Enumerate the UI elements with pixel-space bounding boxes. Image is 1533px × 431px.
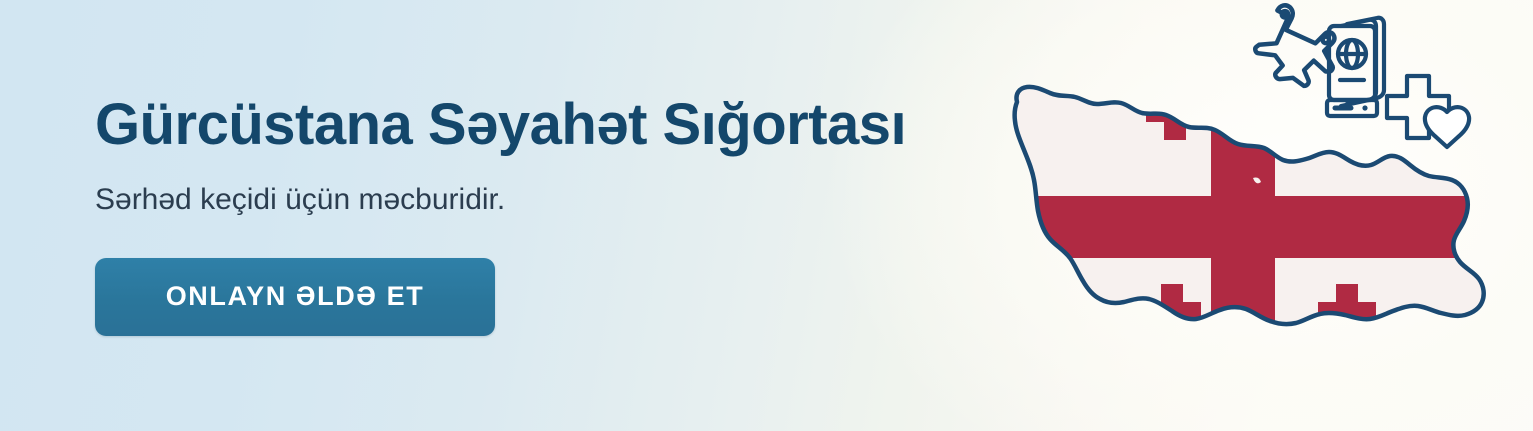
banner-headline: Gürcüstana Səyahət Sığortası — [95, 95, 906, 155]
passport-icon — [1327, 18, 1384, 116]
banner-subline: Sərhəd keçidi üçün məcburidir. — [95, 182, 906, 218]
banner-content: Gürcüstana Səyahət Sığortası Sərhəd keçi… — [95, 0, 906, 431]
travel-insurance-banner: Gürcüstana Səyahət Sığortası Sərhəd keçi… — [0, 0, 1533, 431]
medical-cross-heart-icon — [1387, 76, 1469, 147]
bolnisi-cross-ne — [1305, 82, 1363, 140]
banner-artwork — [1005, 0, 1505, 431]
get-online-button[interactable]: ONLAYN ƏLDƏ ET — [95, 258, 495, 336]
